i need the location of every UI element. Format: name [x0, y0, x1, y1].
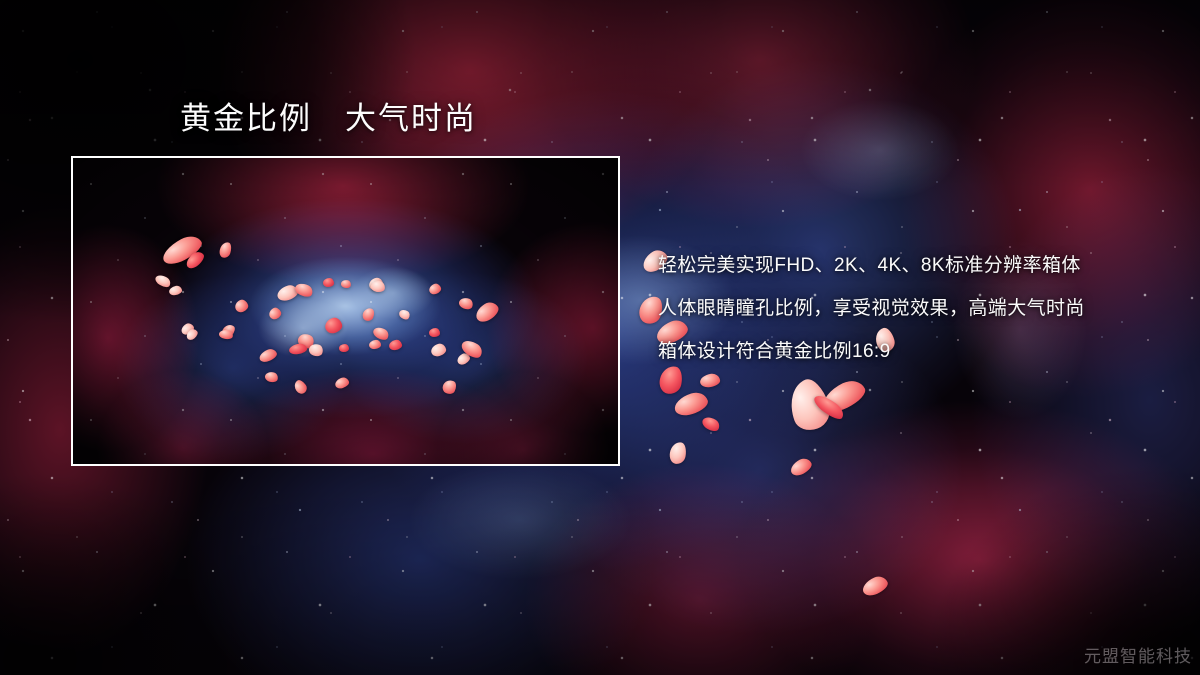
body-line-2: 人体眼睛瞳孔比例，享受视觉效果，高端大气时尚 [658, 299, 1178, 318]
figure-frame [71, 156, 620, 466]
body-text-block: 轻松完美实现FHD、2K、4K、8K标准分辨率箱体 人体眼睛瞳孔比例，享受视觉效… [658, 256, 1178, 361]
figure-image [73, 158, 618, 464]
page-title: 黄金比例 大气时尚 [180, 100, 477, 139]
presentation-slide: 黄金比例 大气时尚 [0, 0, 1200, 675]
body-line-1: 轻松完美实现FHD、2K、4K、8K标准分辨率箱体 [658, 256, 1178, 275]
figure-vignette [73, 158, 618, 464]
watermark: 元盟智能科技 [1084, 642, 1192, 667]
body-line-3: 箱体设计符合黄金比例16:9 [658, 342, 1178, 361]
